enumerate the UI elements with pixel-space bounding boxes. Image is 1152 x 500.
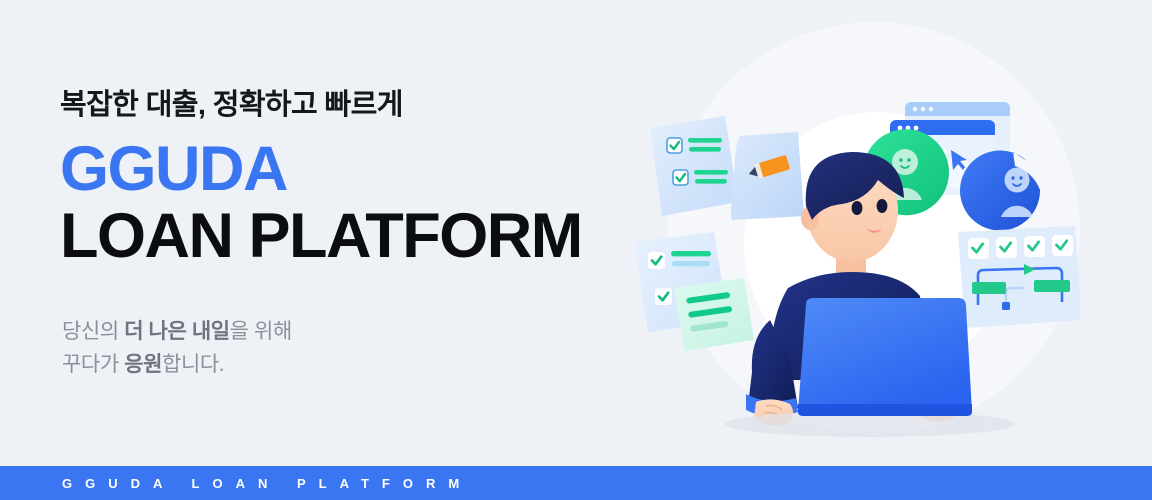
chat-bubble-blue xyxy=(960,151,1040,231)
laptop xyxy=(798,298,972,416)
tagline-2-emphasis: 응원 xyxy=(124,353,162,376)
hero-banner: 복잡한 대출, 정확하고 빠르게 GGUDA LOAN PLATFORM 당신의… xyxy=(0,0,1152,500)
hero-eyebrow: 복잡한 대출, 정확하고 빠르게 xyxy=(60,88,640,123)
tagline-1-emphasis: 더 나은 내일 xyxy=(124,320,229,343)
hero-product-title: LOAN PLATFORM xyxy=(60,204,640,270)
hero-brand-title: GGUDA xyxy=(60,137,640,203)
checklist-card-top-left xyxy=(650,116,738,216)
tagline-2-prefix: 꾸다가 xyxy=(62,353,124,376)
tagline-line-1: 당신의 더 나은 내일을 위해 xyxy=(62,315,292,348)
tagline-1-prefix: 당신의 xyxy=(62,320,124,343)
pencil-note-card xyxy=(730,132,804,220)
tagline-2-suffix: 합니다. xyxy=(162,353,224,376)
hero-tagline: 당신의 더 나은 내일을 위해 꾸다가 응원합니다. xyxy=(62,315,292,381)
approval-flow-card xyxy=(958,226,1080,328)
tagline-1-suffix: 을 위해 xyxy=(230,320,292,343)
bottom-ticker-bar: GGUDA LOAN PLATFORM xyxy=(0,466,1152,500)
note-card-mint xyxy=(674,278,754,351)
hero-copy-block: 복잡한 대출, 정확하고 빠르게 GGUDA LOAN PLATFORM xyxy=(60,88,640,270)
hero-illustration xyxy=(620,20,1080,460)
ticker-text: GGUDA LOAN PLATFORM xyxy=(0,476,472,491)
tagline-line-2: 꾸다가 응원합니다. xyxy=(62,348,292,381)
